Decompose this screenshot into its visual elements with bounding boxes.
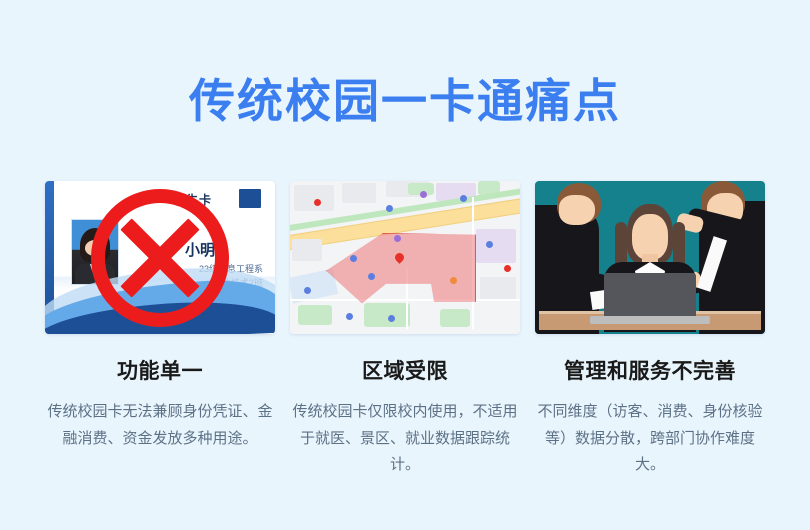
laptop-screen [604, 273, 696, 317]
map-poi-marker [350, 255, 357, 262]
illustration-frame [539, 185, 761, 330]
pain-point-heading-1: 功能单一 [45, 355, 275, 385]
map-poi-marker [386, 205, 393, 212]
map-park [364, 303, 410, 327]
pain-point-body-3: 不同维度（访客、消费、身份核验等）数据分散，跨部门协作难度大。 [535, 399, 765, 479]
office-illustration [535, 181, 765, 334]
pain-point-body-1: 传统校园卡无法兼顾身份凭证、金融消费、资金发放多种用途。 [45, 399, 275, 452]
map-block [476, 229, 516, 263]
map-poi-marker [394, 235, 401, 242]
pain-point-body-2: 传统校园卡仅限校内使用，不适用于就医、景区、就业数据跟踪统计。 [290, 399, 520, 479]
pain-point-card-2: 区域受限 传统校园卡仅限校内使用，不适用于就医、景区、就业数据跟踪统计。 [290, 181, 520, 479]
map-block [292, 239, 322, 261]
map-block [294, 185, 334, 211]
map-park [440, 309, 470, 327]
map-poi-marker [460, 195, 467, 202]
slide-root: 传统校园一卡通痛点 学生卡 小明 23级信息工程系 软件技术2班 [0, 0, 810, 530]
pain-point-card-3: 管理和服务不完善 不同维度（访客、消费、身份核验等）数据分散，跨部门协作难度大。 [535, 181, 765, 479]
laptop-base [590, 316, 710, 324]
map-poi-marker [420, 191, 427, 198]
pain-point-heading-3: 管理和服务不完善 [535, 355, 765, 385]
map-poi-marker [388, 315, 395, 322]
map-poi-marker [314, 199, 321, 206]
prohibition-icon [91, 189, 229, 327]
card-corner-square [239, 189, 261, 208]
page-title: 传统校园一卡通痛点 [0, 76, 810, 127]
map-poi-marker [368, 273, 375, 280]
pain-point-card-1: 学生卡 小明 23级信息工程系 软件技术2班 [45, 181, 275, 479]
pain-point-columns: 学生卡 小明 23级信息工程系 软件技术2班 [0, 181, 810, 479]
map-poi-marker [346, 313, 353, 320]
left-colleague-face [559, 195, 595, 225]
student-card-thumbnail: 学生卡 小明 23级信息工程系 软件技术2班 [45, 181, 275, 334]
map-thumbnail [290, 181, 520, 334]
map-poi-marker [450, 277, 457, 284]
pain-point-heading-2: 区域受限 [290, 355, 520, 385]
map-park [298, 305, 332, 325]
map-poi-marker [486, 241, 493, 248]
map-block [480, 277, 516, 301]
map-road [290, 299, 520, 301]
map-poi-marker [504, 265, 511, 272]
map-block [342, 183, 376, 203]
office-thumbnail [535, 181, 765, 334]
map-poi-marker [304, 287, 311, 294]
campus-map-illustration [290, 181, 520, 334]
